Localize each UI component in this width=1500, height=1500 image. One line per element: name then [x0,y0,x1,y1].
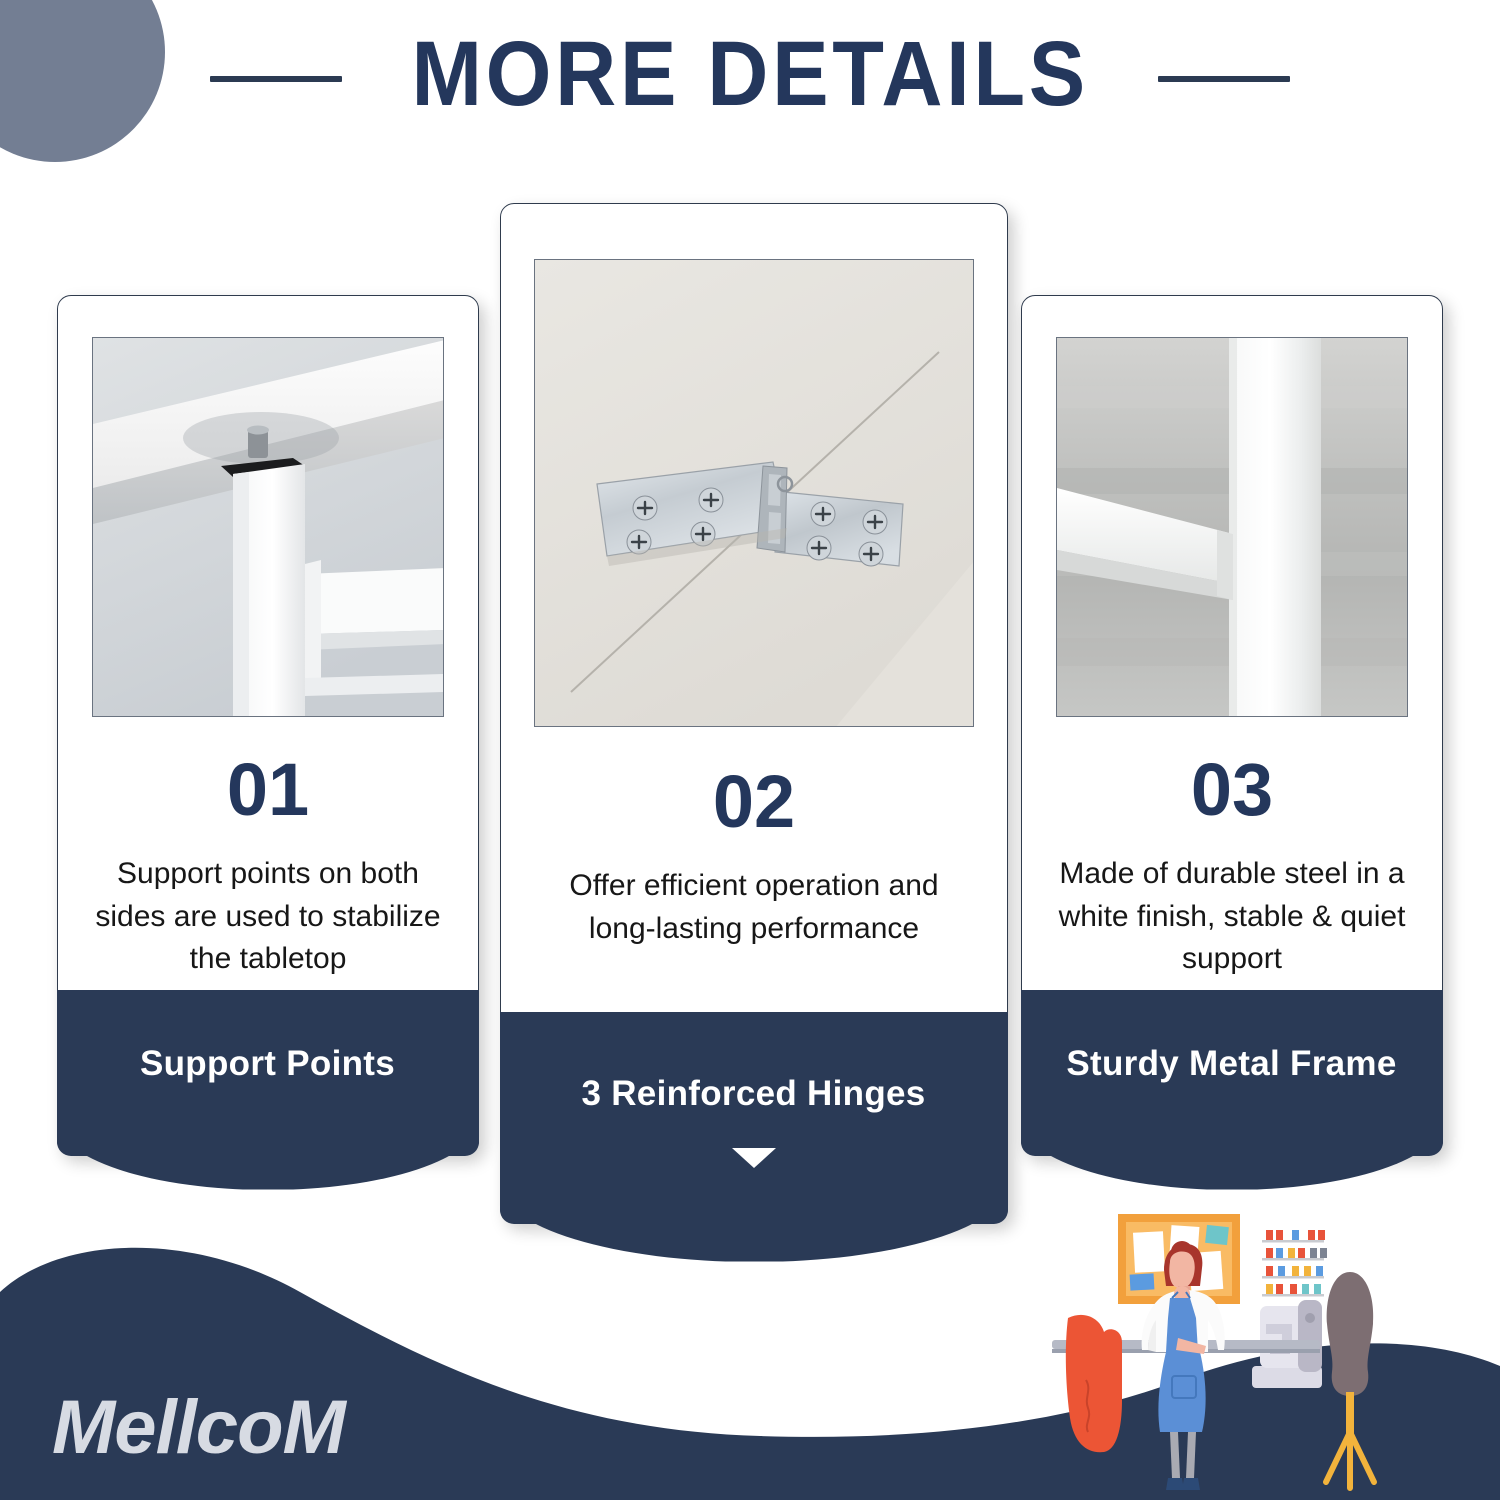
card-2-banner[interactable]: 3 Reinforced Hinges [500,1012,1008,1224]
brand-logo: MellcoM [52,1390,345,1466]
card-2-banner-bulge [500,1184,1008,1262]
card-2-photo [534,259,974,727]
feature-card-1[interactable]: 01 Support points on both sides are used… [57,295,479,1155]
sewing-workshop-illustration [1030,1200,1500,1500]
card-3-photo [1056,337,1408,717]
table-leg-support-point-photo [93,338,444,717]
card-3-description: Made of durable steel in a white finish,… [1032,853,1432,981]
thread-spool-rack [1262,1230,1327,1297]
card-2-banner-label: 3 Reinforced Hinges [581,1074,925,1114]
chevron-down-icon[interactable] [732,1148,776,1168]
card-1-banner-bulge [57,1120,479,1190]
card-1-banner-label: Support Points [140,1044,395,1084]
white-metal-frame-photo [1057,338,1408,717]
card-3-banner-label: Sturdy Metal Frame [1066,1044,1396,1084]
card-3-banner[interactable]: Sturdy Metal Frame [1021,990,1443,1156]
card-1-number: 01 [227,753,309,827]
card-2-description: Offer efficient operation and long-lasti… [524,865,984,950]
card-1-banner[interactable]: Support Points [57,990,479,1156]
feature-cards-row: 01 Support points on both sides are used… [0,0,1500,1260]
card-1-photo [92,337,444,717]
page-header: MORE DETAILS [0,28,1500,120]
card-2-number: 02 [713,765,795,839]
feature-card-3[interactable]: 03 Made of durable steel in a white fini… [1021,295,1443,1155]
title-dash-right [1158,76,1290,82]
feature-card-2[interactable]: 02 Offer efficient operation and long-la… [500,203,1008,1223]
dress-form-mannequin [1326,1272,1374,1488]
page-title: MORE DETAILS [411,28,1088,120]
card-3-banner-bulge [1021,1120,1443,1190]
card-1-description: Support points on both sides are used to… [68,853,468,981]
metal-hinge-plate-photo [535,260,974,727]
title-dash-left [210,76,342,82]
red-fabric-drape [1066,1315,1122,1452]
card-3-number: 03 [1191,753,1273,827]
